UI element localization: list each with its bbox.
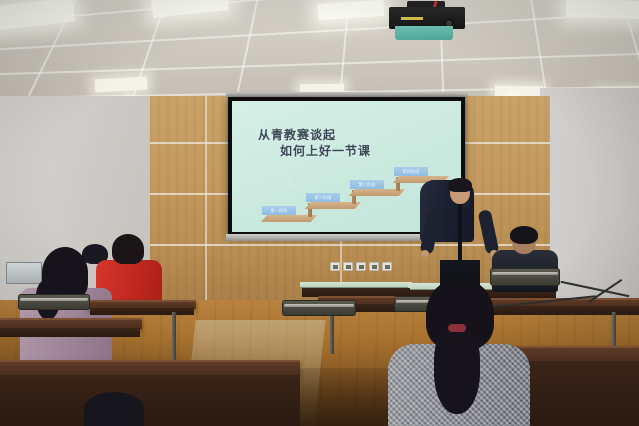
desk-apron	[0, 328, 140, 337]
desk-leg	[172, 312, 176, 360]
ceiling-light-panel	[566, 0, 639, 19]
audience-hair	[510, 226, 538, 244]
chair[interactable]	[490, 268, 560, 286]
slide-step-diagram: 第一阶段 第二阶段 第三阶段 第四阶段	[260, 163, 446, 229]
step-label: 第二阶段	[306, 193, 340, 202]
step-label: 第四阶段	[394, 167, 428, 176]
desk-apron	[90, 308, 194, 315]
foreground-desk-apron	[0, 375, 300, 426]
wall-outlet-group[interactable]	[330, 262, 392, 271]
chair-bar	[284, 304, 354, 307]
classroom-photo: 从青教赛谈起 如何上好一节课 第一阶段 第二阶段	[0, 0, 639, 426]
projector-label	[401, 17, 423, 20]
hair-tie	[448, 324, 466, 332]
slide-title: 从青教赛谈起 如何上好一节课	[258, 127, 371, 159]
foreground-person-back-left	[84, 392, 144, 426]
foreground-person-houndstooth	[388, 286, 530, 426]
wall-outlet[interactable]	[343, 262, 353, 271]
sparkle-icon	[282, 177, 296, 193]
presenter-left-hand	[421, 250, 429, 257]
wall-outlet[interactable]	[382, 262, 392, 271]
projector-base	[395, 26, 453, 40]
wall-outlet[interactable]	[330, 262, 340, 271]
foreground-desk	[0, 360, 300, 376]
audience-hair	[112, 234, 144, 264]
chair[interactable]	[18, 294, 90, 310]
slide-title-line-1: 从青教赛谈起	[258, 128, 336, 142]
chair-bar	[20, 298, 88, 301]
wall-outlet[interactable]	[356, 262, 366, 271]
step-label: 第三阶段	[350, 180, 384, 189]
desk-leg	[330, 310, 334, 354]
ceiling-light-panel	[95, 77, 148, 93]
chair-bar	[492, 272, 558, 275]
foreground-person-hair	[84, 392, 144, 426]
ceiling-projector	[389, 1, 465, 40]
foreground-person-ponytail	[434, 328, 480, 414]
presenter-button-placket	[458, 204, 462, 260]
step-label: 第一阶段	[262, 206, 296, 215]
panel-seam	[205, 96, 207, 308]
presenter-hair	[448, 178, 472, 192]
chair[interactable]	[282, 300, 356, 316]
slide-title-line-2: 如何上好一节课	[258, 143, 371, 159]
wall-outlet[interactable]	[369, 262, 379, 271]
